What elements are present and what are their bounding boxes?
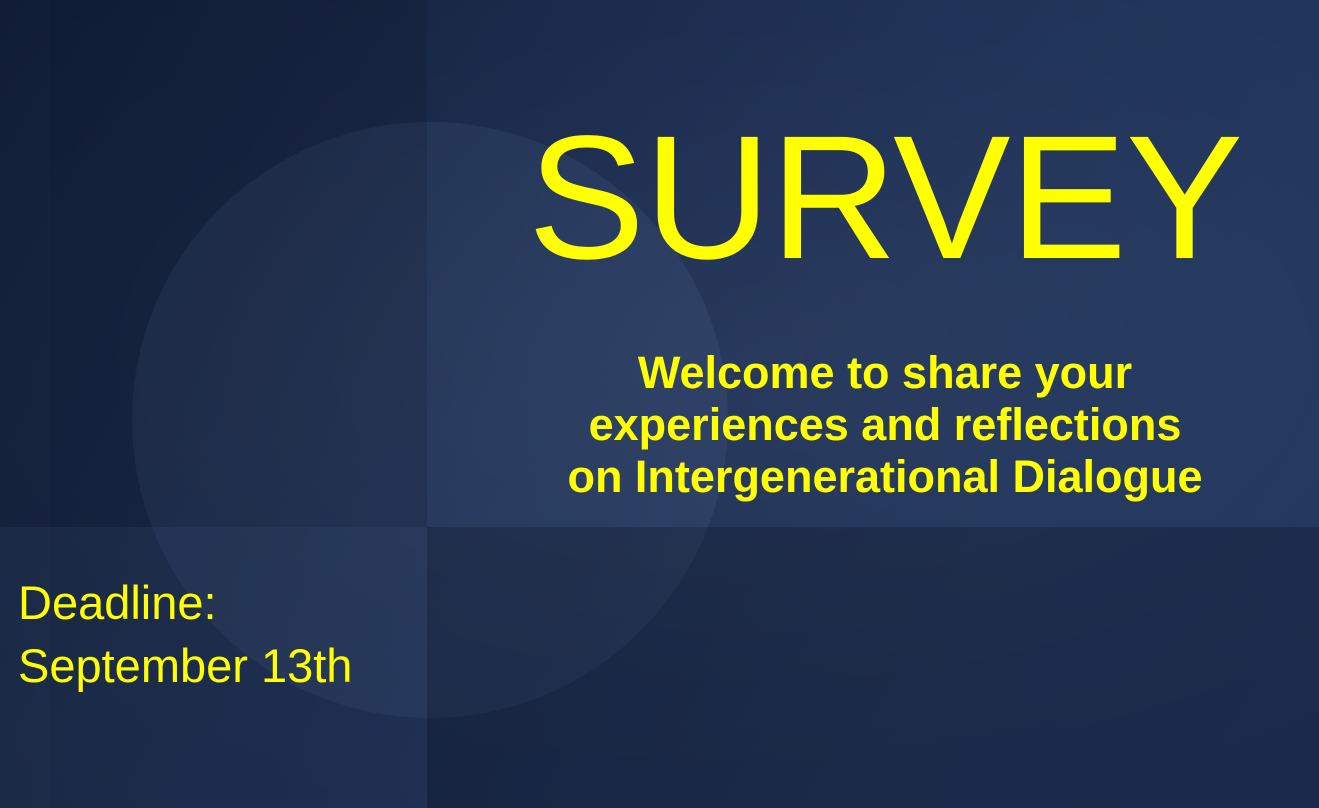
page-title: SURVEY xyxy=(520,110,1250,286)
survey-slide: SURVEY Welcome to share your experiences… xyxy=(0,0,1319,808)
deadline-block: Deadline: September 13th xyxy=(18,571,352,697)
deadline-date: September 13th xyxy=(18,634,352,697)
subtitle-line-3: on Intergenerational Dialogue xyxy=(520,451,1250,503)
subtitle-block: Welcome to share your experiences and re… xyxy=(520,347,1250,503)
subtitle-line-1: Welcome to share your xyxy=(520,347,1250,399)
subtitle-line-2: experiences and reflections xyxy=(520,399,1250,451)
background-lower-right-band xyxy=(427,527,1319,808)
deadline-label: Deadline: xyxy=(18,571,352,634)
